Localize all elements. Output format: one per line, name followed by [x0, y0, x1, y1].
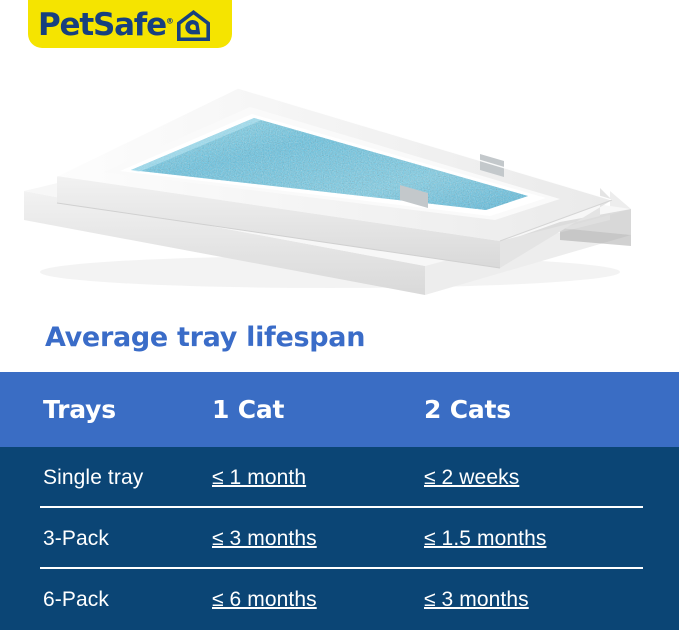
table-row: 6-Pack ≤ 6 months ≤ 3 months — [0, 569, 679, 630]
brand-wordmark: PetSafe® — [38, 10, 174, 41]
infographic-page: PetSafe® — [0, 0, 679, 642]
doghouse-icon — [177, 10, 210, 41]
cell-one-cat-lifespan: ≤ 6 months — [212, 588, 424, 612]
brand-name-text: PetSafe — [38, 7, 166, 43]
product-photo — [0, 60, 679, 295]
section-title: Average tray lifespan — [45, 323, 365, 353]
table-header-row: Trays 1 Cat 2 Cats — [0, 372, 679, 447]
cell-tray-type: Single tray — [0, 466, 212, 490]
cell-two-cats-lifespan: ≤ 3 months — [424, 588, 679, 612]
table-body: Single tray ≤ 1 month ≤ 2 weeks 3-Pack ≤… — [0, 447, 679, 630]
cell-two-cats-lifespan: ≤ 2 weeks — [424, 466, 679, 490]
column-header-two-cats: 2 Cats — [424, 395, 679, 424]
cell-tray-type: 3-Pack — [0, 527, 212, 551]
column-header-one-cat: 1 Cat — [212, 395, 424, 424]
table-row: Single tray ≤ 1 month ≤ 2 weeks — [0, 447, 679, 508]
cell-two-cats-lifespan: ≤ 1.5 months — [424, 527, 679, 551]
cell-tray-type: 6-Pack — [0, 588, 212, 612]
cell-one-cat-lifespan: ≤ 3 months — [212, 527, 424, 551]
column-header-trays: Trays — [0, 395, 212, 424]
lifespan-table: Trays 1 Cat 2 Cats Single tray ≤ 1 month… — [0, 372, 679, 630]
registered-trademark-symbol: ® — [166, 16, 174, 25]
brand-logo: PetSafe® — [28, 0, 232, 48]
cell-one-cat-lifespan: ≤ 1 month — [212, 466, 424, 490]
table-row: 3-Pack ≤ 3 months ≤ 1.5 months — [0, 508, 679, 569]
